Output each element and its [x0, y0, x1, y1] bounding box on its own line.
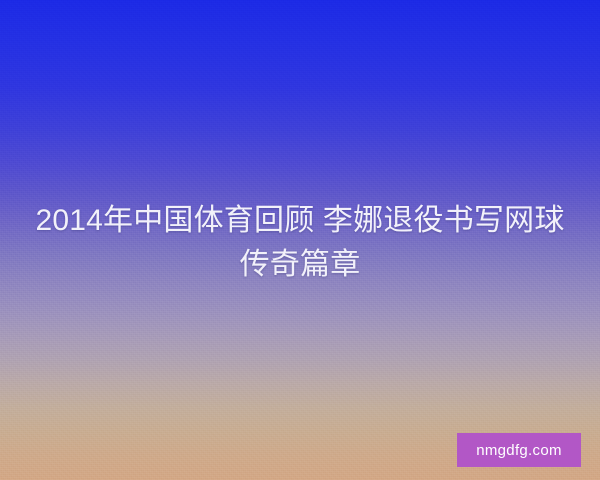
watermark-label: nmgdfg.com [476, 443, 562, 458]
watermark-badge: nmgdfg.com [457, 433, 581, 467]
headline-title: 2014年中国体育回顾 李娜退役书写网球传奇篇章 [0, 199, 600, 287]
cover-image: 2014年中国体育回顾 李娜退役书写网球传奇篇章 nmgdfg.com [0, 0, 600, 480]
